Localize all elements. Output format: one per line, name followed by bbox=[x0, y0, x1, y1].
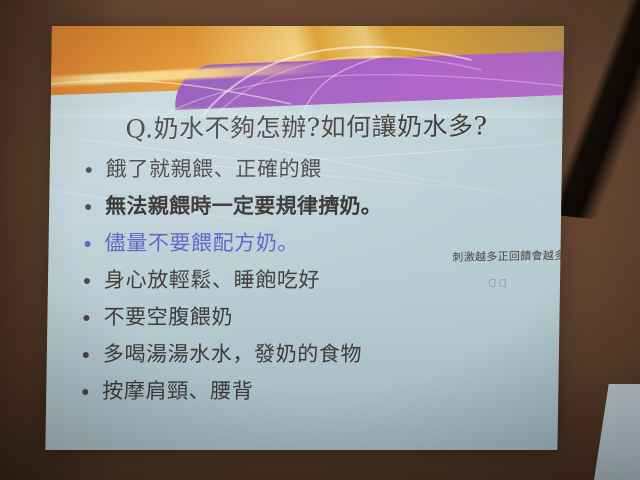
slide-title: Q.奶水不夠怎辦?如何讓奶水多? bbox=[50, 106, 562, 146]
bullet-dot-icon bbox=[84, 278, 90, 284]
list-item-label: 多喝湯湯水水，發奶的食物 bbox=[103, 339, 363, 369]
screenshot-root: Q.奶水不夠怎辦?如何讓奶水多? 餓了就親餵、正確的餵 無法親餵時一定要規律擠奶… bbox=[0, 0, 640, 480]
list-item-label: 身心放輕鬆、睡飽吃好 bbox=[104, 265, 320, 295]
list-item: 多喝湯湯水水，發奶的食物 bbox=[79, 339, 540, 370]
list-item: 餓了就親餵、正確的餵 bbox=[82, 154, 543, 185]
slide-header-band bbox=[51, 26, 565, 118]
slide-canvas: Q.奶水不夠怎辦?如何讓奶水多? 餓了就親餵、正確的餵 無法親餵時一定要規律擠奶… bbox=[45, 26, 564, 450]
list-item-label: 餓了就親餵、正確的餵 bbox=[106, 154, 322, 184]
bullet-dot-icon bbox=[83, 352, 89, 358]
bullet-dot-icon bbox=[85, 241, 91, 247]
annotation-mark-icon: ᗡᗡ bbox=[488, 277, 509, 290]
list-item-label: 無法親餵時一定要規律擠奶。 bbox=[105, 191, 382, 221]
bullet-list: 餓了就親餵、正確的餵 無法親餵時一定要規律擠奶。 儘量不要餵配方奶。 身心放輕鬆… bbox=[78, 154, 542, 413]
side-annotation: 刺激越多正回饋會越多 bbox=[452, 249, 564, 265]
list-item: 無法親餵時一定要規律擠奶。 bbox=[81, 191, 542, 222]
list-item: 身心放輕鬆、睡飽吃好 bbox=[80, 265, 541, 296]
bullet-dot-icon bbox=[82, 389, 88, 395]
bullet-dot-icon bbox=[85, 204, 91, 210]
list-item: 按摩肩頸、腰背 bbox=[78, 376, 539, 407]
list-item-label: 儘量不要餵配方奶。 bbox=[104, 228, 299, 258]
list-item: 不要空腹餵奶 bbox=[79, 302, 540, 333]
bullet-dot-icon bbox=[83, 315, 89, 321]
list-item-label: 按摩肩頸、腰背 bbox=[102, 376, 254, 406]
projected-slide: Q.奶水不夠怎辦?如何讓奶水多? 餓了就親餵、正確的餵 無法親餵時一定要規律擠奶… bbox=[45, 26, 564, 450]
bullet-dot-icon bbox=[86, 167, 92, 173]
list-item-label: 不要空腹餵奶 bbox=[103, 302, 233, 332]
